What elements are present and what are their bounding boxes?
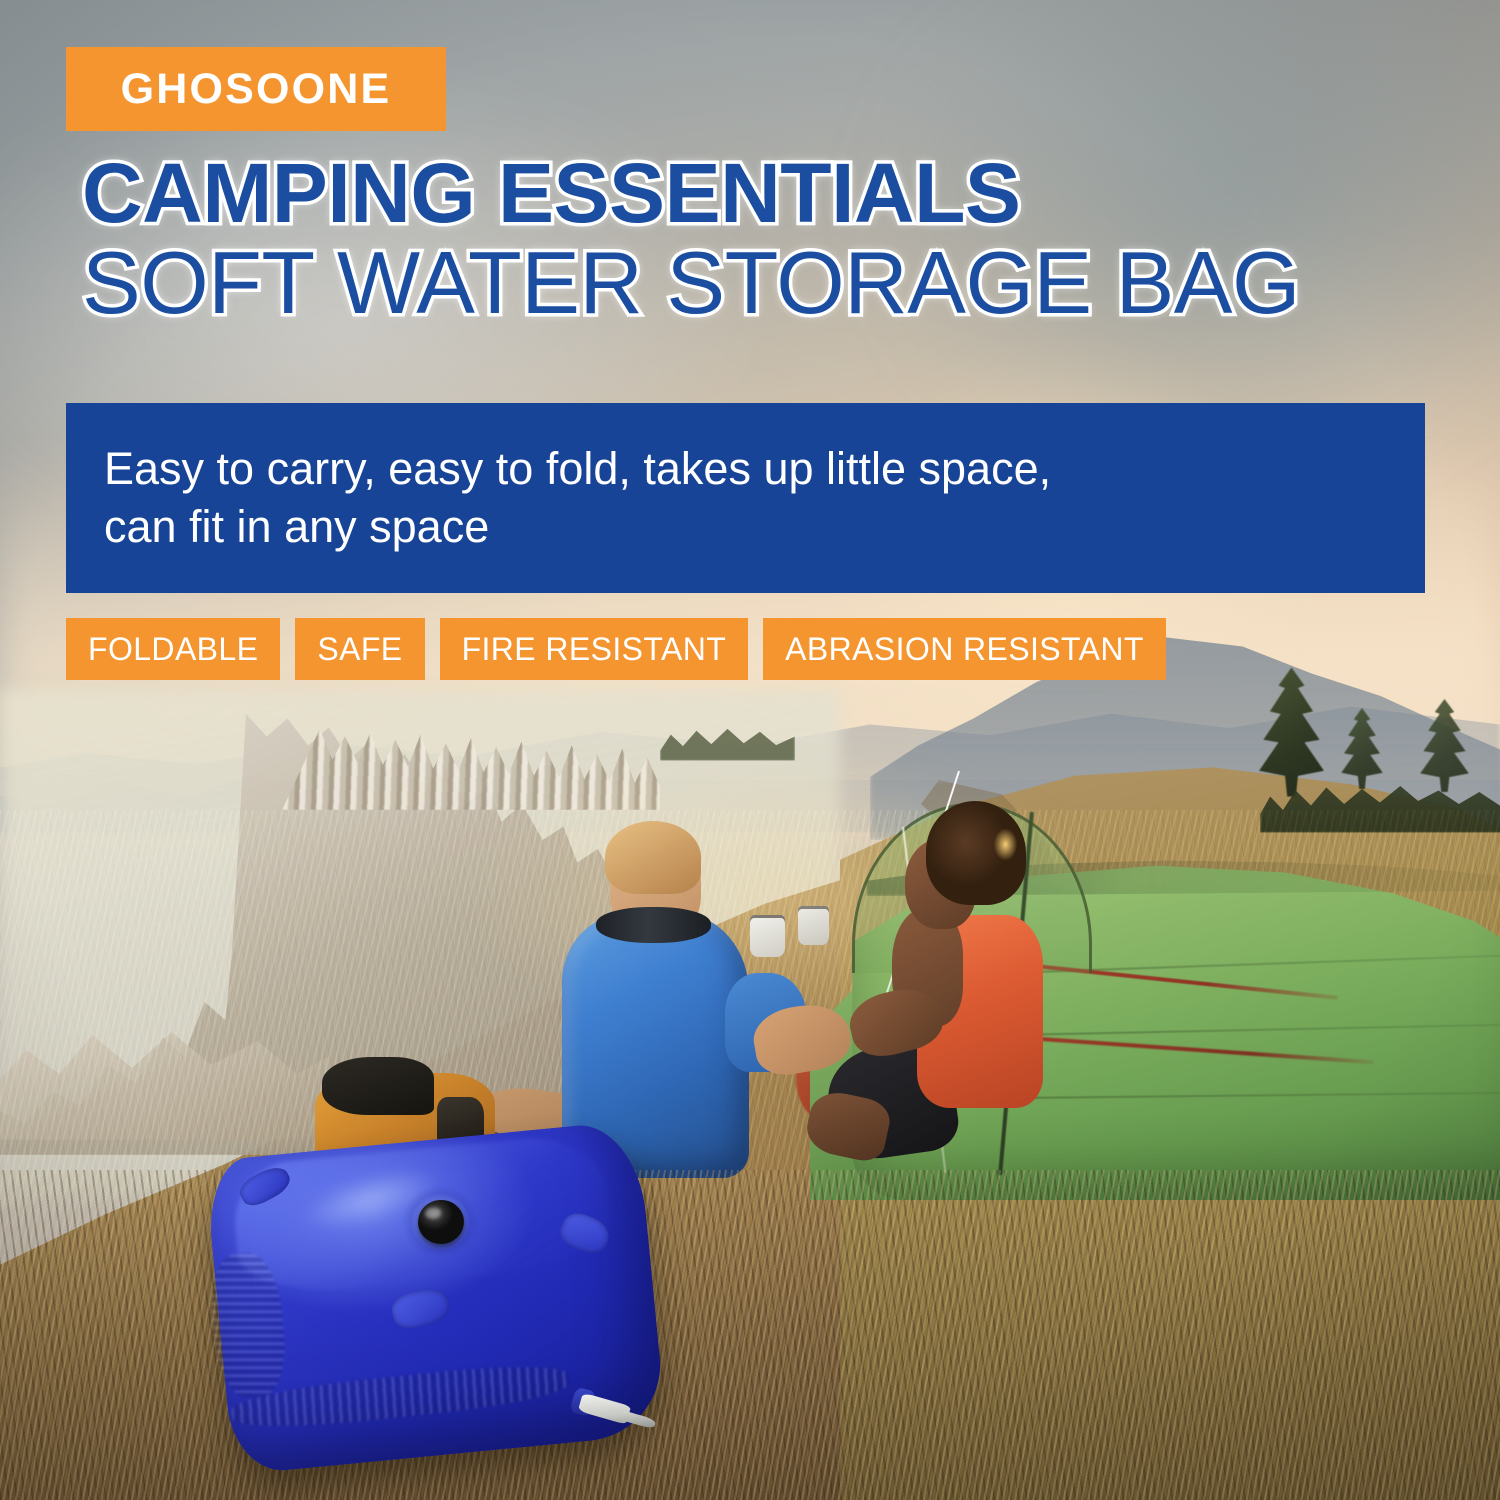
- feature-tag-label: SAFE: [317, 631, 402, 668]
- description-line-2: can fit in any space: [104, 501, 489, 552]
- feature-tag-foldable: FOLDABLE: [66, 618, 280, 680]
- brand-badge: GHOSOONE: [66, 47, 446, 131]
- product-marketing-poster: GHOSOONE CAMPING ESSENTIALS SOFT WATER S…: [0, 0, 1500, 1500]
- headphones-icon: [596, 907, 711, 943]
- feature-tag-list: FOLDABLE SAFE FIRE RESISTANT ABRASION RE…: [66, 618, 1166, 680]
- brand-name: GHOSOONE: [121, 65, 392, 114]
- feature-tag-safe: SAFE: [295, 618, 424, 680]
- water-storage-bag-product: [218, 1140, 653, 1455]
- feature-tag-fire-resistant: FIRE RESISTANT: [440, 618, 749, 680]
- feature-tag-abrasion-resistant: ABRASION RESISTANT: [763, 618, 1166, 680]
- description-box: Easy to carry, easy to fold, takes up li…: [66, 403, 1425, 593]
- feature-tag-label: FIRE RESISTANT: [462, 631, 727, 668]
- camper-woman: [863, 833, 1073, 1178]
- pine-tree-icon: [1328, 708, 1397, 789]
- page-title: CAMPING ESSENTIALS SOFT WATER STORAGE BA…: [82, 152, 1412, 328]
- cup: [798, 906, 829, 945]
- feature-tag-label: FOLDABLE: [88, 631, 258, 668]
- headline-line-2: SOFT WATER STORAGE BAG: [82, 238, 1412, 328]
- headline-line-1: CAMPING ESSENTIALS: [82, 152, 1412, 234]
- bag-fill-cap: [416, 1198, 465, 1246]
- cup: [750, 915, 785, 957]
- description-text: Easy to carry, easy to fold, takes up li…: [104, 440, 1051, 557]
- description-line-1: Easy to carry, easy to fold, takes up li…: [104, 443, 1051, 494]
- pine-tree-icon: [1404, 699, 1485, 792]
- feature-tag-label: ABRASION RESISTANT: [785, 631, 1144, 668]
